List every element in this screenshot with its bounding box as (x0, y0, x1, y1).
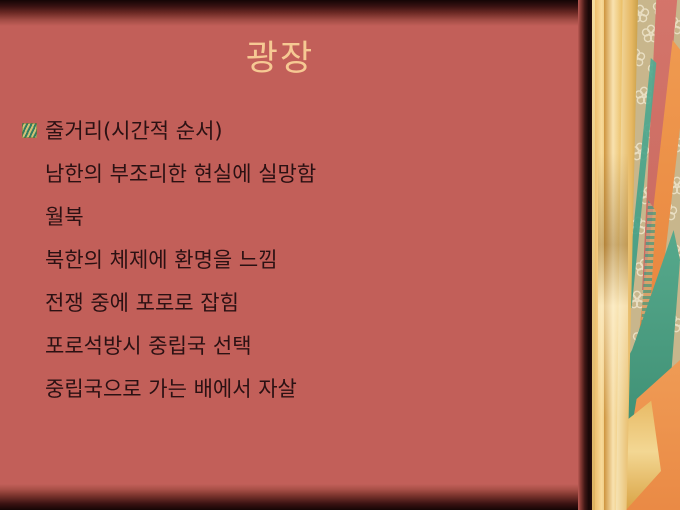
bullet-line: 월북 (22, 202, 542, 245)
bullet-line-text: 북한의 체제에 환명을 느낌 (45, 245, 278, 275)
bullet-line-text: 남한의 부조리한 현실에 실망함 (45, 159, 316, 189)
slide-title: 광장 (0, 36, 560, 82)
bullet-line-text: 월북 (45, 202, 84, 232)
artwork-panel (592, 0, 680, 510)
bullet-line-text: 포로석방시 중립국 선택 (45, 331, 252, 361)
presentation-slide: 광장 줄거리(시간적 순서) 남한의 부조리한 현실에 실망함 월북 북한의 체… (0, 0, 680, 510)
slide-body: 줄거리(시간적 순서) 남한의 부조리한 현실에 실망함 월북 북한의 체제에 … (22, 116, 542, 417)
artwork-shadow-gutter (578, 0, 592, 510)
artwork-gold-ribbon-2 (604, 0, 624, 510)
bullet-line: 북한의 체제에 환명을 느낌 (22, 245, 542, 288)
bullet-line-text: 줄거리(시간적 순서) (45, 116, 223, 146)
bullet-line: 남한의 부조리한 현실에 실망함 (22, 159, 542, 202)
bullet-line: 전쟁 중에 포로로 잡힘 (22, 288, 542, 331)
bullet-line-text: 전쟁 중에 포로로 잡힘 (45, 288, 239, 318)
decorative-border-artwork (578, 0, 680, 510)
bullet-line: 줄거리(시간적 순서) (22, 116, 542, 159)
square-bullet-icon (22, 123, 37, 138)
bullet-line: 중립국으로 가는 배에서 자살 (22, 374, 542, 417)
artwork-left-edge (592, 0, 595, 510)
bullet-line-text: 중립국으로 가는 배에서 자살 (45, 374, 297, 404)
plum-blossom-pattern-icon (624, 0, 680, 510)
bullet-line: 포로석방시 중립국 선택 (22, 331, 542, 374)
